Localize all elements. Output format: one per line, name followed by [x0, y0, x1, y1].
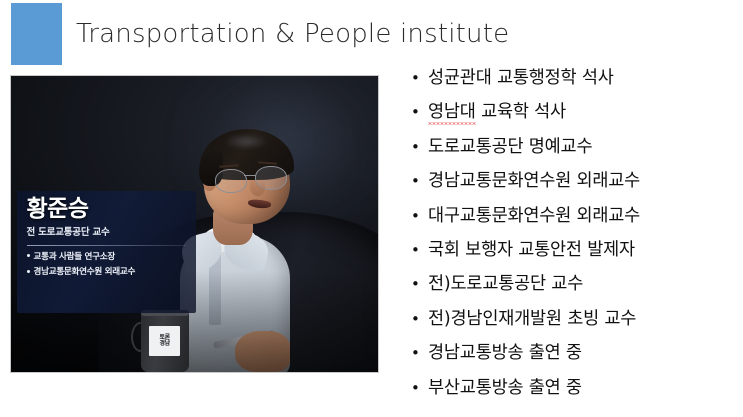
title-accent-bar — [11, 3, 62, 65]
list-item-label: 도로교통공단 명예교수 — [428, 133, 592, 158]
mug-logo-line-2: 경남 — [159, 341, 169, 347]
bullet-marker-icon: • — [404, 346, 428, 361]
bullet-marker-icon: • — [404, 140, 428, 155]
list-item-label: 부산교통방송 출연 중 — [428, 374, 582, 399]
list-item: • 영남대 교육학 석사 — [404, 98, 743, 132]
list-item: • 부산교통방송 출연 중 — [404, 374, 743, 408]
caption-divider — [27, 245, 187, 246]
speaker-photo: 토론 경남 황준승 전 도로교통공단 교수 교통과 사람들 연구소장 경남교통문… — [11, 76, 378, 372]
list-item: • 도로교통공단 명예교수 — [404, 133, 743, 167]
bullet-marker-icon: • — [404, 312, 428, 327]
list-item: • 경남교통문화연수원 외래교수 — [404, 167, 743, 201]
list-item-label: 성균관대 교통행정학 석사 — [428, 64, 614, 89]
list-item: • 성균관대 교통행정학 석사 — [404, 64, 743, 98]
eyeglasses-bridge — [244, 175, 255, 177]
list-item-label: 전)경남인재개발원 초빙 교수 — [428, 305, 636, 330]
list-item-label: 경남교통방송 출연 중 — [428, 339, 582, 364]
caption-bullet-dot — [27, 270, 30, 273]
list-item: • 대구교통문화연수원 외래교수 — [404, 202, 743, 236]
eyeglasses-lens-left — [215, 169, 247, 193]
bullet-marker-icon: • — [404, 243, 428, 258]
list-item: • 전)경남인재개발원 초빙 교수 — [404, 305, 743, 339]
credentials-list: • 성균관대 교통행정학 석사 • 영남대 교육학 석사 • 도로교통공단 명예… — [404, 64, 743, 408]
lower-third-caption: 황준승 전 도로교통공단 교수 교통과 사람들 연구소장 경남교통문화연수원 외… — [17, 191, 197, 312]
bullet-marker-icon: • — [404, 174, 428, 189]
caption-bullet-label: 교통과 사람들 연구소장 — [34, 252, 115, 262]
bullet-marker-icon: • — [404, 381, 428, 396]
list-item-label-rest: 교육학 석사 — [476, 102, 566, 122]
list-item: • 경남교통방송 출연 중 — [404, 339, 743, 373]
caption-bullet: 경남교통문화연수원 외래교수 — [27, 267, 189, 279]
list-item-label: 경남교통문화연수원 외래교수 — [428, 167, 640, 192]
spellcheck-flagged-word: 영남대 — [428, 102, 476, 125]
bullet-marker-icon: • — [404, 209, 428, 224]
caption-bullet-label: 경남교통문화연수원 외래교수 — [34, 267, 136, 277]
list-item-label: 전)도로교통공단 교수 — [428, 270, 583, 295]
list-item-label: 국회 보행자 교통안전 발제자 — [428, 236, 635, 261]
bullet-marker-icon: • — [404, 105, 428, 120]
speaker-role: 전 도로교통공단 교수 — [27, 224, 189, 238]
caption-bullet: 교통과 사람들 연구소장 — [27, 252, 189, 264]
caption-bullet-dot — [27, 254, 30, 257]
bullet-marker-icon: • — [404, 71, 428, 86]
mug-logo: 토론 경남 — [149, 326, 180, 356]
bullet-marker-icon: • — [404, 277, 428, 292]
nose — [250, 178, 265, 196]
list-item: • 국회 보행자 교통안전 발제자 — [404, 236, 743, 270]
speaker-name: 황준승 — [27, 197, 189, 221]
list-item: • 전)도로교통공단 교수 — [404, 270, 743, 304]
presentation-slide: Transportation & People institute — [0, 0, 743, 417]
list-item-label: 대구교통문화연수원 외래교수 — [428, 202, 640, 227]
page-title: Transportation & People institute — [76, 12, 509, 56]
list-item-label: 영남대 교육학 석사 — [428, 98, 566, 123]
hair-highlight — [224, 134, 268, 149]
